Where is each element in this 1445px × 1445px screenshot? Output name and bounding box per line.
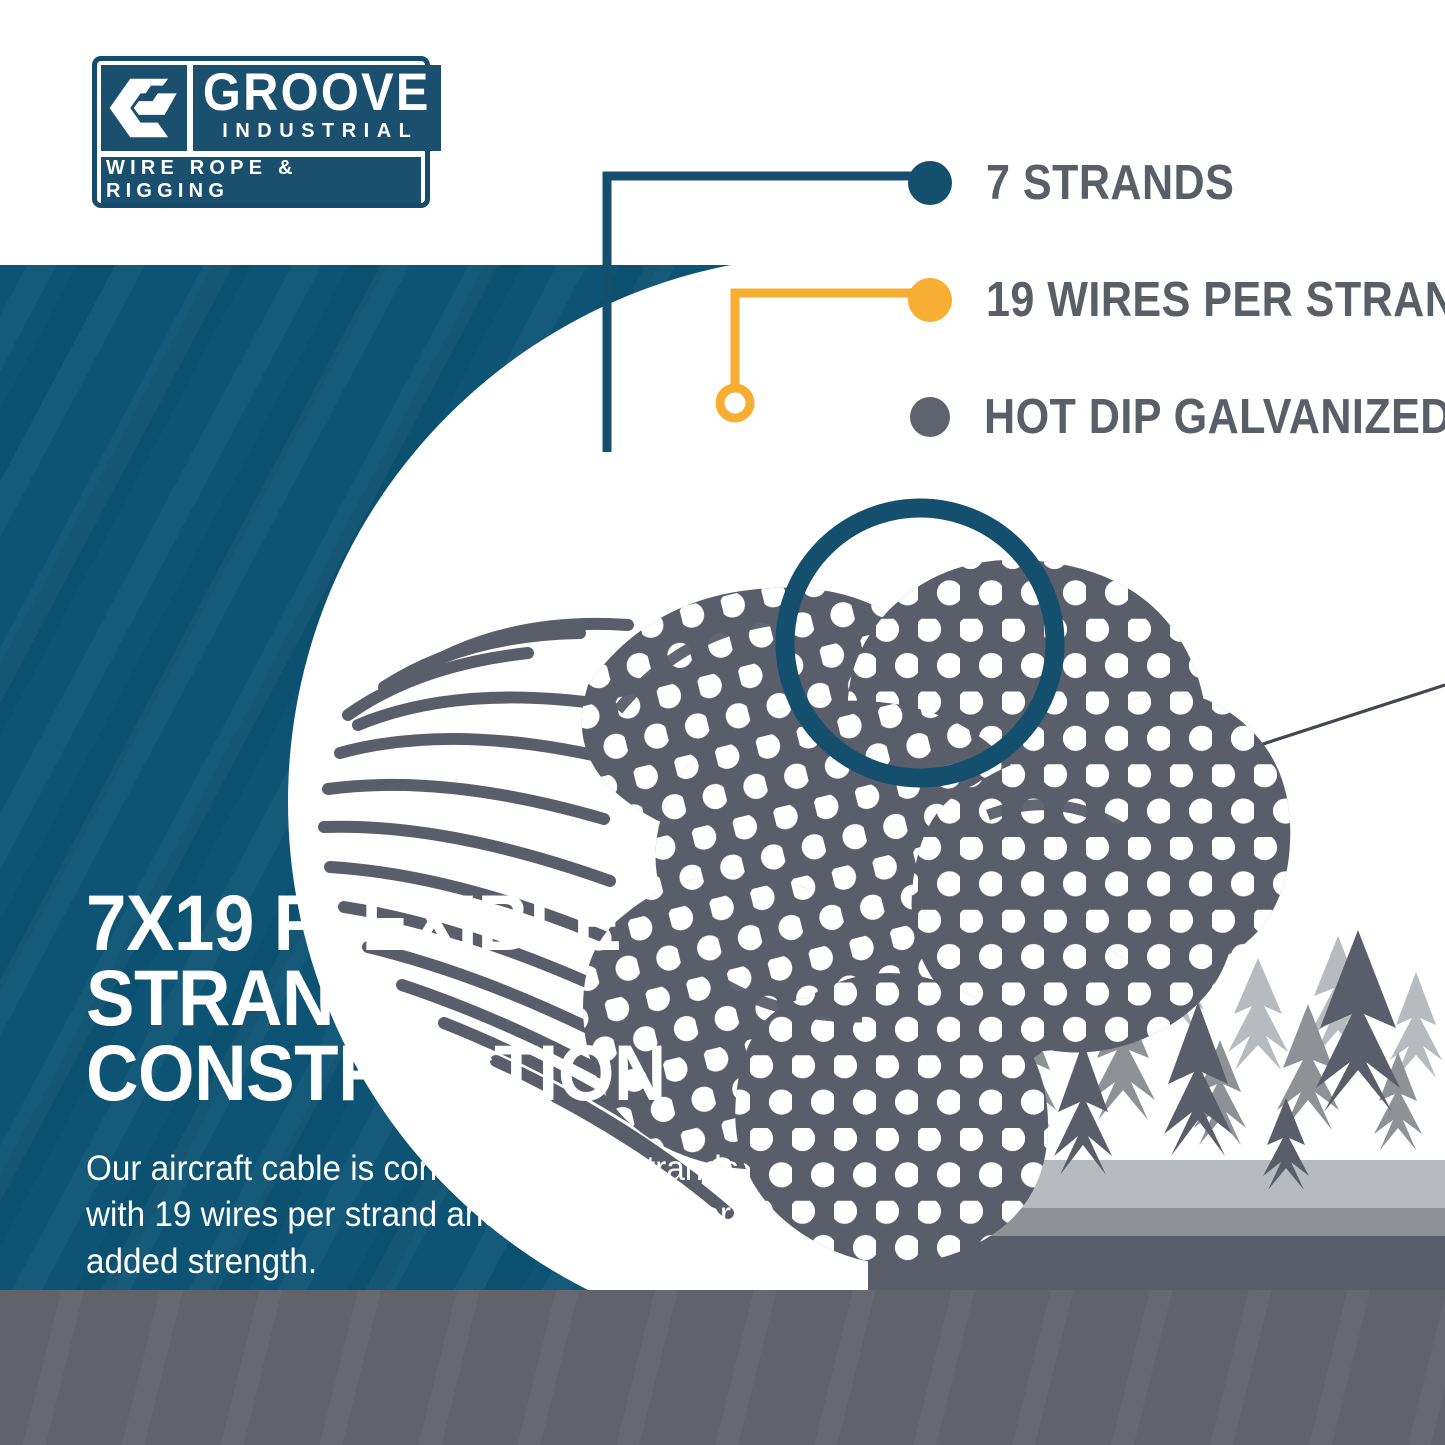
brand-logo[interactable]: GROOVE INDUSTRIAL WIRE ROPE & RIGGING: [92, 56, 430, 208]
logo-wordmark-box: GROOVE INDUSTRIAL: [193, 65, 441, 151]
callout-dot-blue: [908, 161, 952, 205]
zipline-scene: [868, 600, 1445, 1290]
brand-tagline: WIRE ROPE & RIGGING: [101, 157, 421, 203]
callout-strands[interactable]: 7 STRANDS: [908, 155, 1268, 211]
infographic-canvas: GROOVE INDUSTRIAL WIRE ROPE & RIGGING: [0, 0, 1445, 1445]
callout-galvanized[interactable]: HOT DIP GALVANIZED: [908, 389, 1445, 445]
logo-top-row: GROOVE INDUSTRIAL: [101, 65, 421, 151]
callout-label-strands: 7 STRANDS: [986, 155, 1234, 211]
bottom-gray-bar: [0, 1290, 1445, 1445]
callout-wires-per-strand[interactable]: 19 WIRES PER STRAND: [908, 272, 1445, 328]
callout-dot-gray: [910, 397, 950, 437]
callout-label-galvanized: HOT DIP GALVANIZED: [984, 389, 1445, 445]
groove-g-hexagon-logo-icon: [101, 65, 187, 151]
logo-tagline-box: WIRE ROPE & RIGGING: [101, 157, 421, 203]
callout-dot-orange: [908, 278, 952, 322]
logo-mark-box: [101, 65, 187, 151]
panel-body-text: Our aircraft cable is constructed of 7 s…: [86, 1146, 751, 1285]
brand-name: GROOVE: [203, 70, 431, 117]
zipline-scene-svg: [868, 600, 1445, 1290]
brand-subtitle: INDUSTRIAL: [215, 120, 418, 143]
headline-line-2: STRAND CONSTRUCTION: [86, 960, 785, 1110]
logo-inner: GROOVE INDUSTRIAL WIRE ROPE & RIGGING: [101, 65, 421, 199]
headline-line-1: 7X19 FLEXIBLE: [86, 885, 785, 960]
callout-label-wires: 19 WIRES PER STRAND: [986, 272, 1445, 328]
panel-text-block: 7X19 FLEXIBLE STRAND CONSTRUCTION Our ai…: [86, 885, 846, 1285]
bottom-bar-stripes: [0, 1290, 1445, 1445]
